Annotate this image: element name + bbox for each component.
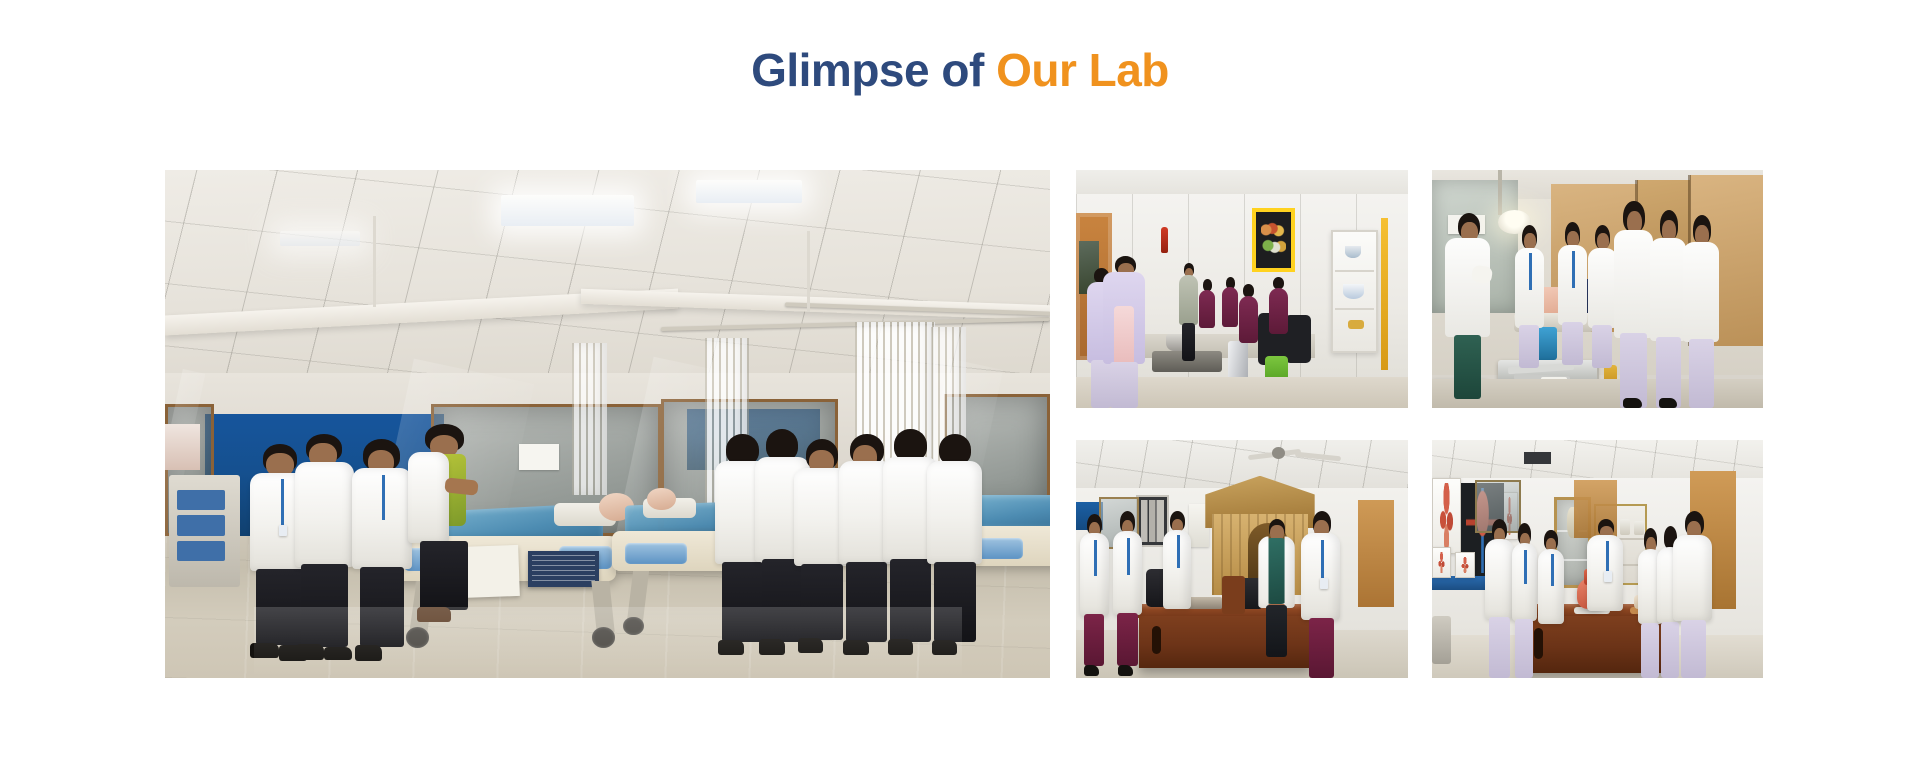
page-title-accent: Our Lab [996, 44, 1169, 96]
lab-coat [408, 452, 449, 544]
person-instructor [1179, 263, 1199, 363]
lanyard [1524, 550, 1527, 584]
person-student-seated [1199, 279, 1216, 331]
lanyard [1321, 540, 1324, 580]
chair [1222, 576, 1245, 614]
person-student [1673, 511, 1713, 678]
lab-coat [927, 461, 982, 564]
uniform [1683, 242, 1719, 342]
trousers [1620, 333, 1647, 408]
trousers [1562, 322, 1582, 365]
trousers [1454, 335, 1481, 400]
shoe [1659, 398, 1676, 408]
gallery-thumb-2[interactable]: Obstetrics and Midwifery Lab [1432, 170, 1764, 408]
person-student-seated [1238, 284, 1258, 348]
ceiling-light-panel [501, 195, 634, 225]
uniform [1222, 287, 1238, 327]
floral-apron [1114, 306, 1134, 370]
trousers [1689, 339, 1714, 408]
chair [1285, 315, 1312, 363]
trousers [1515, 619, 1533, 678]
person-student [1511, 523, 1538, 678]
gallery-thumb-grid: Nutrition and Dietetics Lab [1076, 170, 1763, 678]
shoe [1084, 665, 1099, 676]
gallery-thumb-3[interactable]: Community Health Nursing Lab [1076, 440, 1408, 678]
person-instructor [1445, 213, 1491, 403]
lanyard [281, 479, 284, 527]
uniform [1614, 230, 1653, 338]
community-health-lab-scene [1076, 440, 1408, 678]
person-student-seated [1222, 277, 1239, 332]
jacket [1179, 275, 1198, 325]
ward-lab-scene [165, 170, 1050, 678]
person-faculty [1587, 519, 1623, 638]
floor-reflection [254, 607, 962, 678]
trousers [1084, 614, 1104, 667]
lanyard [1572, 251, 1575, 288]
wall-poster [165, 424, 200, 470]
ceiling-vent [1524, 452, 1551, 464]
person-student [1103, 256, 1146, 408]
trousers [1266, 605, 1286, 656]
id-badge [1320, 578, 1328, 589]
person-student [1514, 225, 1544, 368]
desk-handle [1152, 626, 1160, 655]
anatomy-chart [1432, 478, 1462, 554]
wooden-door [1358, 500, 1394, 607]
glimpse-of-our-lab-section: Glimpse of Our Lab [0, 0, 1920, 763]
person-faculty [1258, 519, 1294, 657]
lanyard [1177, 535, 1180, 568]
trousers [1182, 323, 1195, 361]
trolley-drawer [177, 515, 226, 535]
uniform [1673, 535, 1712, 622]
person-student [1485, 519, 1515, 678]
trousers [1117, 613, 1137, 666]
uniform [1199, 290, 1215, 328]
nutrition-lab-scene [1076, 170, 1408, 408]
cabinet-shelf [1335, 270, 1375, 272]
lab-stool [1432, 616, 1452, 664]
ceiling-light-panel [696, 180, 802, 203]
anatomy-chart [1455, 552, 1475, 578]
trousers [420, 541, 468, 609]
gallery-thumb-1[interactable]: Nutrition and Dietetics Lab [1076, 170, 1408, 408]
lanyard [1094, 540, 1097, 576]
lanyard [1127, 538, 1130, 575]
ceiling-drop-rod [807, 231, 810, 312]
anatomy-chart [1432, 547, 1452, 578]
ceramic-bowl [1345, 246, 1362, 258]
wall-notice [519, 444, 559, 469]
trolley-drawer [177, 541, 226, 561]
person-student [1112, 511, 1142, 678]
person-student [1538, 530, 1565, 644]
lanyard [1551, 554, 1554, 586]
lab-gallery: Nursing Foundation / Simulation Ward Lab [165, 170, 1763, 678]
bed-side-rail [625, 543, 687, 563]
examination-lamp-arm [1498, 170, 1502, 215]
trousers [1489, 617, 1509, 678]
uniform [1650, 238, 1686, 341]
shoe [1623, 398, 1642, 408]
trousers [1519, 325, 1539, 368]
person-student-seated [1268, 277, 1288, 339]
gallery-thumb-4[interactable]: Anatomy and Physiology Lab [1432, 440, 1764, 678]
uniform [1239, 296, 1258, 344]
lanyard [1606, 541, 1609, 572]
uniform [1485, 539, 1514, 619]
trousers [1681, 620, 1706, 678]
person-student [1557, 222, 1587, 365]
uniform [1269, 288, 1288, 334]
person-student [1162, 511, 1192, 620]
bed-info-plate [528, 551, 599, 587]
ceiling-fan-hub [1272, 447, 1285, 459]
lab-coat [1445, 238, 1490, 337]
maternity-lab-scene [1432, 170, 1764, 408]
trousers [1110, 362, 1138, 408]
trousers [1309, 618, 1334, 678]
yellow-pillar [1381, 218, 1388, 370]
patient-manikin-head [647, 488, 675, 511]
person-student [1614, 201, 1654, 408]
id-badge [279, 525, 287, 536]
stored-item [1348, 320, 1365, 330]
uniform [1588, 248, 1617, 328]
trousers [1592, 325, 1612, 368]
food-group-chart [1252, 208, 1295, 272]
person-student [1683, 215, 1719, 408]
lanyard [1529, 253, 1532, 290]
person-student [1079, 514, 1109, 678]
lab-coat [295, 462, 354, 567]
shoe [1118, 665, 1133, 677]
ceiling-light-panel [280, 231, 360, 246]
page-title: Glimpse of Our Lab [0, 44, 1920, 97]
cabinet-shelf [1335, 308, 1375, 310]
person-student [1587, 225, 1617, 368]
anatomy-lab-scene [1432, 440, 1764, 678]
person-student [1301, 511, 1341, 678]
id-badge [1604, 571, 1612, 582]
privacy-curtain [572, 343, 607, 495]
trolley-drawer [177, 490, 226, 510]
ceramic-bowl [1343, 284, 1365, 298]
gallery-main-image[interactable]: Nursing Foundation / Simulation Ward Lab [165, 170, 1050, 678]
ceiling-drop-rod [373, 216, 376, 307]
person-student [1650, 210, 1686, 408]
page-title-primary: Glimpse of [751, 44, 996, 96]
lanyard [382, 475, 385, 520]
person-faculty [408, 424, 479, 637]
fire-extinguisher-icon [1161, 227, 1169, 253]
